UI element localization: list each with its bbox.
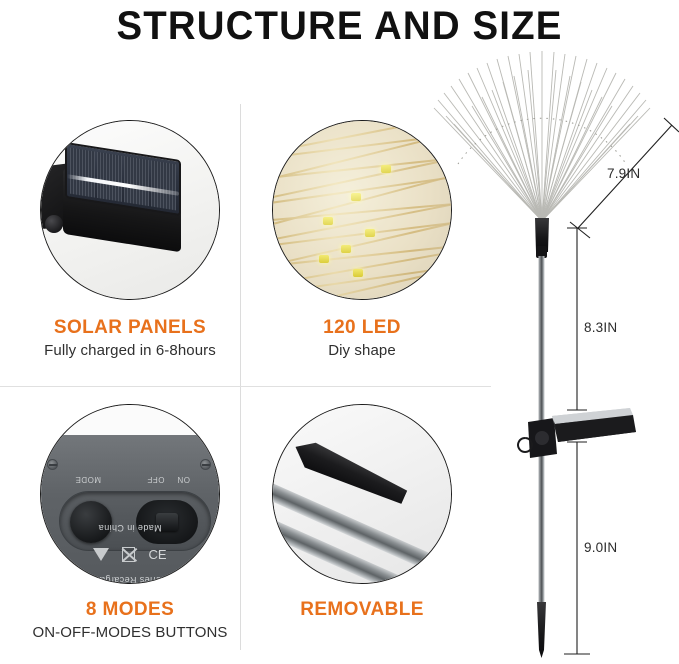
mode-button[interactable] <box>70 501 112 543</box>
made-in-text: Made in China <box>41 523 219 533</box>
weee-bin-icon <box>122 547 135 562</box>
dimension-lines <box>564 118 679 654</box>
product-svg <box>424 46 679 658</box>
control-panel-photo: MODE OFF ON CE Made in China Batteries R… <box>40 404 220 584</box>
feature-subtitle: Fully charged in 6-8hours <box>10 340 250 362</box>
dimension-label-upper-pole: 8.3IN <box>584 320 617 335</box>
compliance-symbols: CE <box>41 547 219 562</box>
battery-text: Batteries Recargables <box>41 575 219 584</box>
warning-triangle-icon <box>93 548 109 561</box>
bracket-knob <box>45 215 63 233</box>
caption-solar-panels: SOLAR PANELS Fully charged in 6-8hours <box>10 316 250 362</box>
off-label: OFF <box>147 475 165 484</box>
on-label: ON <box>177 475 190 484</box>
screw-icon <box>47 459 58 470</box>
feature-title: SOLAR PANELS <box>10 316 250 340</box>
mode-label: MODE <box>75 475 101 484</box>
power-switch[interactable] <box>136 500 198 544</box>
vertical-divider <box>240 104 241 650</box>
dimension-label-lower-pole: 9.0IN <box>584 540 617 555</box>
ce-mark-icon: CE <box>148 547 166 562</box>
ground-stake <box>537 602 546 658</box>
page-title: STRUCTURE AND SIZE <box>14 4 666 49</box>
caption-modes: 8 MODES ON-OFF-MODES BUTTONS <box>10 598 250 644</box>
solar-panel-photo <box>40 120 220 300</box>
feature-subtitle: ON-OFF-MODES BUTTONS <box>10 622 250 644</box>
product-diagram: 7.9IN 8.3IN 9.0IN <box>424 46 679 658</box>
solar-panel-image-content <box>41 121 219 299</box>
dimension-label-fan-width: 7.9IN <box>607 166 640 181</box>
infographic-page: STRUCTURE AND SIZE SOLAR PANELS Fully ch… <box>0 0 679 664</box>
control-panel-image-content: MODE OFF ON CE Made in China Batteries R… <box>41 405 219 583</box>
switch-recess <box>59 491 211 551</box>
feature-title: 8 MODES <box>10 598 250 622</box>
screw-icon <box>200 459 211 470</box>
horizontal-divider <box>0 386 491 387</box>
led-fan-head <box>434 51 650 221</box>
back-plate: MODE OFF ON CE Made in China Batteries R… <box>41 435 219 584</box>
